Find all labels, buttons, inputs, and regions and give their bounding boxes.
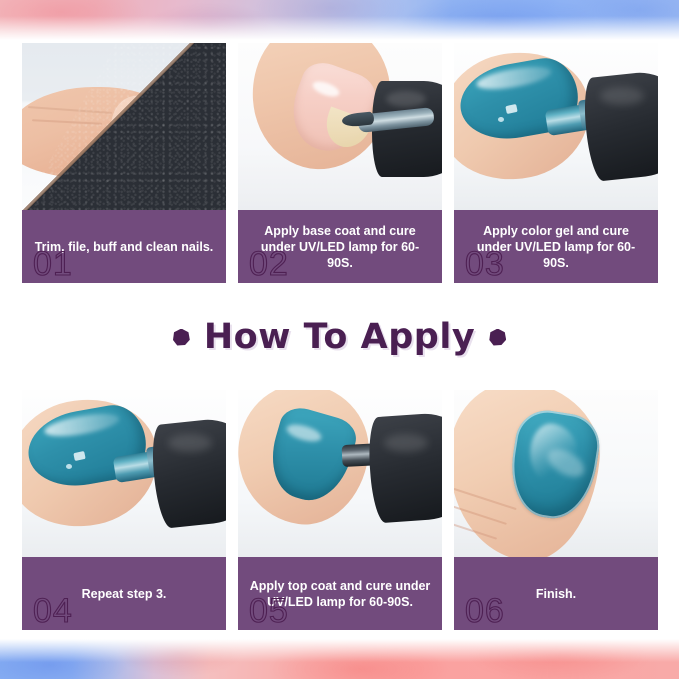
polish-bottle-cap-icon — [366, 410, 442, 523]
cap-highlight — [386, 91, 426, 107]
bottom-watercolor-band — [0, 639, 679, 679]
cap-highlight — [384, 434, 428, 452]
cap-highlight — [600, 87, 644, 105]
step-card-05[interactable]: 05 Apply top coat and cure under UV/LED … — [238, 390, 442, 630]
step-photo-03 — [454, 43, 658, 210]
step-number-03: 03 — [465, 247, 505, 281]
gel-shine-dot — [66, 464, 72, 469]
step-card-02[interactable]: 02 Apply base coat and cure under UV/LED… — [238, 43, 442, 283]
step-photo-04 — [22, 390, 226, 557]
step-number-06: 06 — [465, 594, 505, 628]
step-photo-06 — [454, 390, 658, 557]
top-watercolor-band — [0, 0, 679, 40]
step-number-01: 01 — [33, 247, 73, 281]
polish-bottle-cap-icon — [581, 68, 658, 182]
top-band-fade — [0, 0, 679, 40]
section-title: How To Apply — [0, 306, 679, 368]
bottom-band-fade — [0, 639, 679, 679]
steps-row-bottom: 04 Repeat step 3. 05 Apply top coat and … — [22, 390, 658, 630]
step-photo-01 — [22, 43, 226, 210]
page-title: How To Apply — [204, 317, 475, 357]
hexagon-bullet-left-icon — [173, 329, 190, 346]
step-number-04: 04 — [33, 594, 73, 628]
step-card-03[interactable]: 03 Apply color gel and cure under UV/LED… — [454, 43, 658, 283]
step-number-02: 02 — [249, 247, 289, 281]
step-card-06[interactable]: 06 Finish. — [454, 390, 658, 630]
step-card-04[interactable]: 04 Repeat step 3. — [22, 390, 226, 630]
hexagon-bullet-right-icon — [489, 329, 506, 346]
step-card-01[interactable]: 01 Trim, file, buff and clean nails. — [22, 43, 226, 283]
gel-shine-dot — [498, 117, 504, 122]
step-photo-02 — [238, 43, 442, 210]
step-number-05: 05 — [249, 594, 289, 628]
emery-board-edge — [22, 43, 226, 210]
step-photo-05 — [238, 390, 442, 557]
polish-bottle-cap-icon — [149, 415, 226, 529]
steps-row-top: 01 Trim, file, buff and clean nails. 02 … — [22, 43, 658, 283]
cap-highlight — [168, 434, 212, 452]
